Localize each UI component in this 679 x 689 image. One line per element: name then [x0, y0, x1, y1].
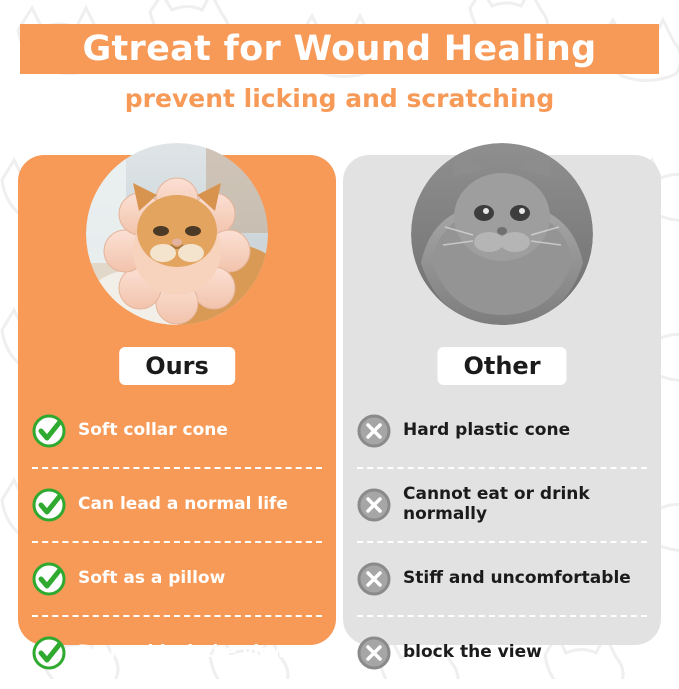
list-item-label: block the view — [403, 643, 542, 663]
list-item: Soft as a pillow — [32, 541, 322, 615]
list-item: block the view — [357, 615, 647, 689]
comparison-section: Ours Soft collar cone — [18, 155, 661, 645]
list-item-label: Cannot eat or drink normally — [403, 485, 647, 524]
list-item: Soft collar cone — [32, 395, 322, 467]
list-item-label: Can lead a normal life — [78, 495, 288, 515]
other-feature-list: Hard plastic cone Cannot eat or drink no… — [357, 395, 647, 631]
list-item-label: Do not block the view — [78, 643, 286, 663]
header: Gtreat for Wound Healing prevent licking… — [20, 24, 659, 113]
cross-circle-icon — [357, 414, 391, 448]
check-circle-icon — [32, 562, 66, 596]
column-other: Other Hard plastic cone — [343, 155, 661, 645]
list-item-label: Soft as a pillow — [78, 569, 225, 589]
ours-product-photo — [86, 143, 268, 325]
ours-feature-list: Soft collar cone Can lead a normal life — [32, 395, 322, 631]
title-banner: Gtreat for Wound Healing — [20, 24, 659, 74]
cross-circle-icon — [357, 488, 391, 522]
cross-circle-icon — [357, 636, 391, 670]
page-subtitle: prevent licking and scratching — [20, 84, 659, 113]
list-item-label: Stiff and uncomfortable — [403, 569, 631, 589]
promo-page: Gtreat for Wound Healing prevent licking… — [0, 0, 679, 679]
check-circle-icon — [32, 414, 66, 448]
list-item-label: Hard plastic cone — [403, 421, 570, 441]
list-item: Do not block the view — [32, 615, 322, 689]
list-item: Can lead a normal life — [32, 467, 322, 541]
list-item: Cannot eat or drink normally — [357, 467, 647, 541]
list-item: Hard plastic cone — [357, 395, 647, 467]
list-item: Stiff and uncomfortable — [357, 541, 647, 615]
column-ours: Ours Soft collar cone — [18, 155, 336, 645]
page-title: Gtreat for Wound Healing — [83, 29, 597, 69]
other-product-photo — [411, 143, 593, 325]
check-circle-icon — [32, 488, 66, 522]
ours-label: Ours — [119, 347, 235, 385]
check-circle-icon — [32, 636, 66, 670]
list-item-label: Soft collar cone — [78, 421, 228, 441]
cross-circle-icon — [357, 562, 391, 596]
other-label: Other — [437, 347, 566, 385]
